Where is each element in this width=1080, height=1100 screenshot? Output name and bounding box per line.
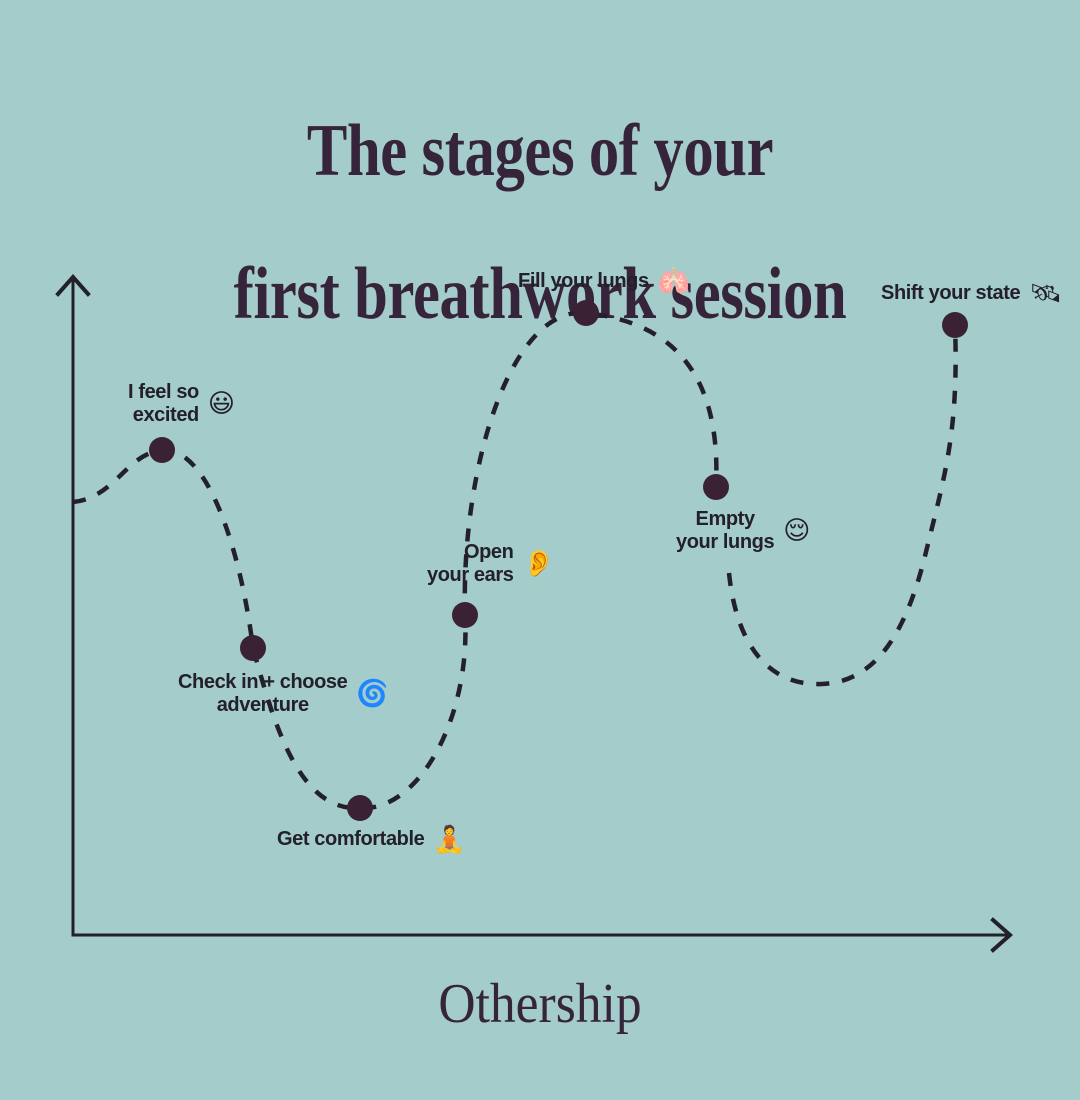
stage-label-text-shift-state: Shift your state xyxy=(881,282,1020,305)
curve-segment-right xyxy=(729,325,956,684)
chart-data-points xyxy=(149,300,968,821)
stage-label-text-get-comfortable: Get comfortable xyxy=(277,828,424,851)
stage-label-open-ears: Open your ears👂 xyxy=(427,541,554,587)
lungs-icon: 🫁 xyxy=(658,269,690,295)
stage-label-text-excited: I feel so excited xyxy=(128,381,199,427)
relieved-face-icon: 😌 xyxy=(783,518,810,544)
data-point-empty-lungs xyxy=(703,474,729,500)
cyclone-icon: 🌀 xyxy=(356,681,388,707)
stage-label-excited: I feel so excited😃 xyxy=(128,381,235,427)
data-point-fill-lungs xyxy=(573,300,599,326)
stage-label-text-empty-lungs: Empty your lungs xyxy=(676,508,774,554)
data-point-open-ears xyxy=(452,602,478,628)
stage-label-text-fill-lungs: Fill your lungs xyxy=(518,270,649,293)
stage-label-empty-lungs: Empty your lungs😌 xyxy=(676,508,810,554)
data-point-get-comfortable xyxy=(347,795,373,821)
brand-wordmark: Othership xyxy=(43,972,1037,1036)
stage-label-fill-lungs: Fill your lungs🫁 xyxy=(518,269,690,295)
stage-label-text-check-in: Check in + choose adventure xyxy=(178,671,347,717)
data-point-check-in xyxy=(240,635,266,661)
stage-label-check-in: Check in + choose adventure🌀 xyxy=(178,671,388,717)
chart-axes xyxy=(58,277,1010,950)
data-point-shift-state xyxy=(942,312,968,338)
stage-label-shift-state: Shift your state🛰 xyxy=(881,281,1062,307)
ear-icon: 👂 xyxy=(522,551,554,577)
grinning-face-with-big-eyes-icon: 😃 xyxy=(208,391,235,417)
stage-label-text-open-ears: Open your ears xyxy=(427,541,513,587)
stage-label-get-comfortable: Get comfortable🧘 xyxy=(277,827,465,853)
person-in-lotus-position-icon: 🧘 xyxy=(433,827,465,853)
data-point-excited xyxy=(149,437,175,463)
poster-canvas: The stages of your first breathwork sess… xyxy=(0,0,1080,1100)
satellite-icon: 🛰 xyxy=(1029,281,1062,307)
